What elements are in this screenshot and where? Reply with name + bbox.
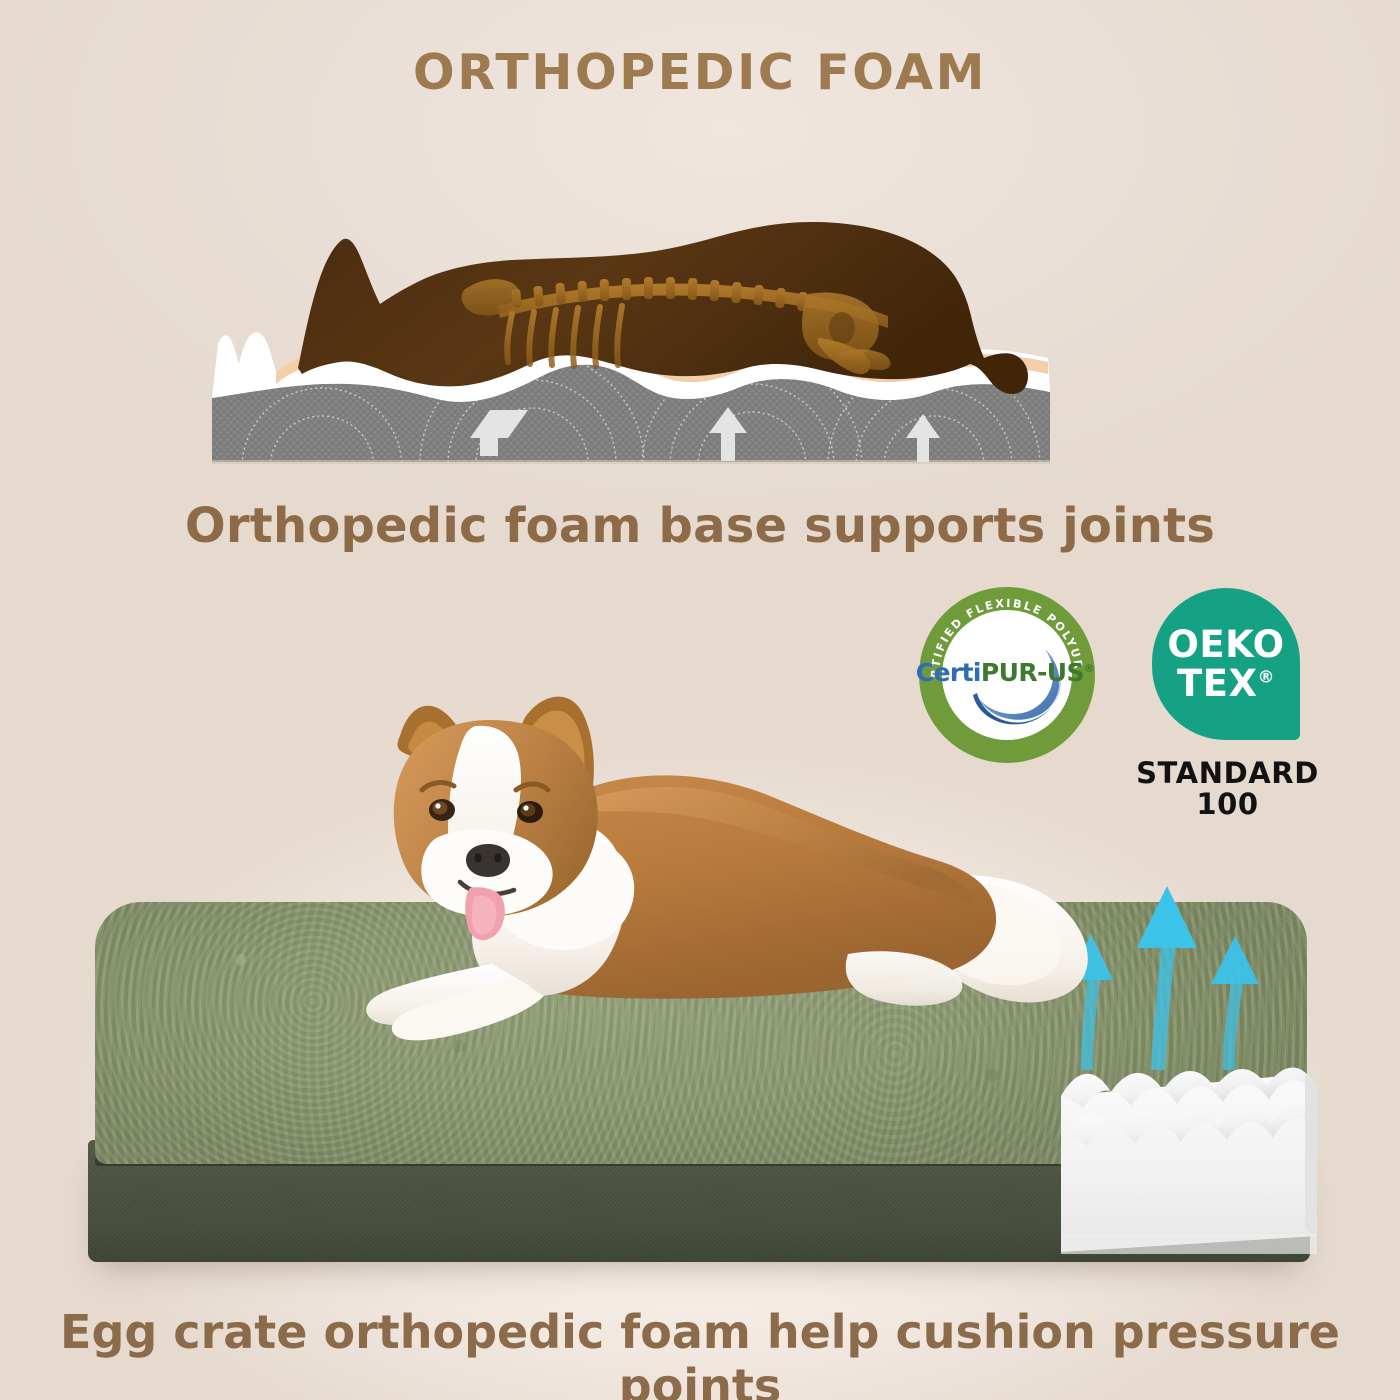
page-title: ORTHOPEDIC FOAM: [0, 44, 1400, 101]
orthopedic-foam-cross-section-illustration: [212, 186, 1050, 478]
bottom-caption: Egg crate orthopedic foam help cushion p…: [0, 1305, 1400, 1400]
dog-photo: [230, 678, 1130, 1118]
product-feature-graphic: ORTHOPEDIC FOAM: [0, 0, 1400, 1400]
product-scene: BEHITCIGA: [0, 640, 1400, 1320]
top-caption: Orthopedic foam base supports joints: [0, 498, 1400, 554]
